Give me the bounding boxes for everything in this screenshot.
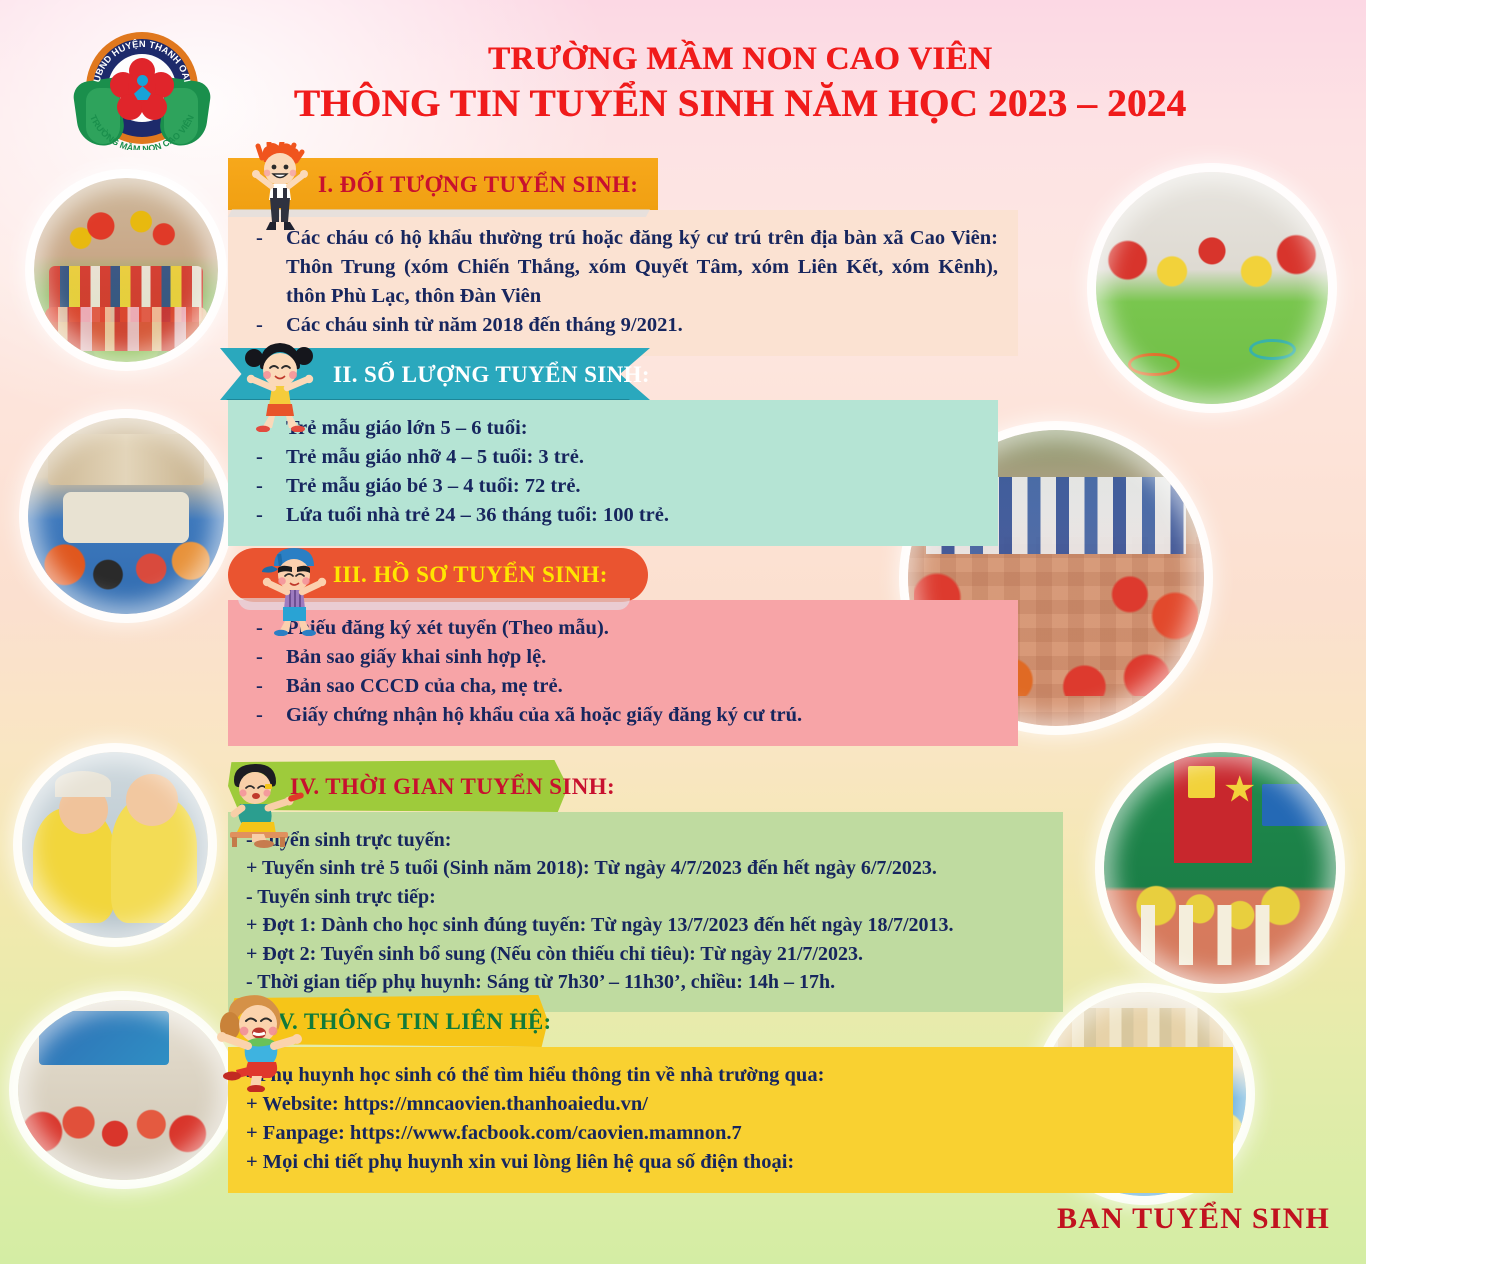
boy-blue-cap-mascot — [248, 542, 342, 641]
logo-arc-top-label: UBND HUYỆN THANH OAI — [92, 38, 193, 83]
logo-arc-text: UBND HUYỆN THANH OAI TRƯỜNG MẦM NON CAO … — [72, 32, 212, 150]
section-5-banner: V. THÔNG TIN LIÊN HỆ: — [228, 995, 1233, 1047]
list-item: + Đợt 1: Dành cho học sinh đúng tuyến: T… — [246, 911, 1043, 939]
list-item: - Tuyển sinh trực tiếp: — [246, 883, 1043, 911]
section-4-heading: IV. THỜI GIAN TUYỂN SINH: — [290, 775, 615, 798]
section-2-body: - Trẻ mẫu giáo lớn 5 – 6 tuổi: - Trẻ mẫu… — [228, 400, 998, 546]
fanpage-line: + Fanpage: https://www.facbook.com/caovi… — [246, 1119, 1213, 1148]
bullet-text: Trẻ mẫu giáo bé 3 – 4 tuổi: 72 trẻ. — [286, 472, 978, 501]
title-line-2: THÔNG TIN TUYỂN SINH NĂM HỌC 2023 – 2024 — [235, 81, 1245, 127]
bullet-text: Bản sao CCCD của cha, mẹ trẻ. — [286, 672, 998, 701]
section-so-luong-tuyen-sinh: II. SỐ LƯỢNG TUYỂN SINH: - Trẻ mẫu giáo … — [228, 348, 1018, 546]
list-item: - Thời gian tiếp phụ huynh: Sáng từ 7h30… — [246, 968, 1043, 996]
poster-title-block: TRƯỜNG MẦM NON CAO VIÊN THÔNG TIN TUYỂN … — [235, 40, 1245, 127]
list-item: - Tuyển sinh trực tuyến: — [246, 826, 1043, 854]
bullet-text: Các cháu sinh từ năm 2018 đến tháng 9/20… — [286, 311, 998, 340]
bullet-text: Lứa tuổi nhà trẻ 24 – 36 tháng tuổi: 100… — [286, 501, 978, 530]
footer-signature: BAN TUYỂN SINH — [1057, 1204, 1330, 1234]
list-item: - Giấy chứng nhận hộ khẩu của xã hoặc gi… — [256, 701, 998, 730]
section-3-banner: III. HỒ SƠ TUYỂN SINH: — [228, 548, 1018, 600]
list-item: - Phiếu đăng ký xét tuyển (Theo mẫu). — [256, 614, 998, 643]
photo-outdoor-play — [22, 752, 208, 938]
list-item: - Phụ huynh học sinh có thể tìm hiểu thô… — [246, 1061, 1213, 1090]
bullet-dash: - — [256, 643, 286, 672]
bullet-text: Trẻ mẫu giáo nhỡ 4 – 5 tuổi: 3 trẻ. — [286, 443, 978, 472]
section-4-banner: IV. THỜI GIAN TUYỂN SINH: — [228, 760, 1063, 812]
section-2-heading: II. SỐ LƯỢNG TUYỂN SINH: — [333, 363, 650, 386]
list-item: - Trẻ mẫu giáo lớn 5 – 6 tuổi: — [256, 414, 978, 443]
bullet-dash: - — [256, 701, 286, 730]
section-5-heading: V. THÔNG TIN LIÊN HỆ: — [278, 1010, 552, 1033]
photo-classroom-activity — [28, 418, 224, 614]
list-item: - Bản sao CCCD của cha, mẹ trẻ. — [256, 672, 998, 701]
list-item: + Tuyển sinh trẻ 5 tuổi (Sinh năm 2018):… — [246, 854, 1043, 882]
bullet-dash: - — [256, 472, 286, 501]
boy-sitting-crayon-mascot — [212, 758, 308, 855]
list-item: - Các cháu sinh từ năm 2018 đến tháng 9/… — [256, 311, 998, 340]
list-item: - Trẻ mẫu giáo nhỡ 4 – 5 tuổi: 3 trẻ. — [256, 443, 978, 472]
list-item: - Bản sao giấy khai sinh hợp lệ. — [256, 643, 998, 672]
bullet-dash: - — [256, 501, 286, 530]
photo-sports-day — [1096, 172, 1328, 404]
section-1-body: - Các cháu có hộ khẩu thường trú hoặc đă… — [228, 210, 1018, 356]
phone-line: + Mọi chi tiết phụ huynh xin vui lòng li… — [246, 1148, 1213, 1177]
section-5-body: - Phụ huynh học sinh có thể tìm hiểu thô… — [228, 1047, 1233, 1193]
poster-header: UBND HUYỆN THANH OAI TRƯỜNG MẦM NON CAO … — [0, 14, 1366, 144]
section-3-body: - Phiếu đăng ký xét tuyển (Theo mẫu). - … — [228, 600, 1018, 746]
photo-award-ceremony — [1104, 752, 1336, 984]
bullet-dash: - — [256, 443, 286, 472]
girl-pigtails-mascot — [232, 336, 328, 437]
website-line: + Website: https://mncaovien.thanhoaiedu… — [246, 1090, 1213, 1119]
section-3-heading: III. HỒ SƠ TUYỂN SINH: — [333, 563, 608, 586]
bullet-dash: - — [256, 672, 286, 701]
bullet-text: Bản sao giấy khai sinh hợp lệ. — [286, 643, 998, 672]
svg-text:TRƯỜNG MẦM NON CAO VIÊN: TRƯỜNG MẦM NON CAO VIÊN — [88, 113, 196, 150]
section-4-body: - Tuyển sinh trực tuyến: + Tuyển sinh tr… — [228, 812, 1063, 1012]
list-item: - Trẻ mẫu giáo bé 3 – 4 tuổi: 72 trẻ. — [256, 472, 978, 501]
title-line-1: TRƯỜNG MẦM NON CAO VIÊN — [235, 40, 1245, 79]
bullet-text: Các cháu có hộ khẩu thường trú hoặc đăng… — [286, 224, 998, 311]
bullet-text: Giấy chứng nhận hộ khẩu của xã hoặc giấy… — [286, 701, 998, 730]
section-ho-so-tuyen-sinh: III. HỒ SƠ TUYỂN SINH: - Phiếu đăng ký x… — [228, 548, 1018, 746]
section-thoi-gian-tuyen-sinh: IV. THỜI GIAN TUYỂN SINH: - Tuyển sinh t… — [228, 760, 1063, 1012]
list-item: - Các cháu có hộ khẩu thường trú hoặc đă… — [256, 224, 998, 311]
section-thong-tin-lien-he: V. THÔNG TIN LIÊN HỆ: - Phụ huynh học si… — [228, 995, 1233, 1193]
bullet-text: Phiếu đăng ký xét tuyển (Theo mẫu). — [286, 614, 998, 643]
logo-arc-bottom-label: TRƯỜNG MẦM NON CAO VIÊN — [88, 113, 196, 150]
list-item: - Lứa tuổi nhà trẻ 24 – 36 tháng tuổi: 1… — [256, 501, 978, 530]
photo-tet-group — [34, 178, 218, 362]
section-doi-tuong-tuyen-sinh: I. ĐỐI TƯỢNG TUYỂN SINH: - Các cháu có h… — [228, 158, 1018, 356]
bullet-text: Trẻ mẫu giáo lớn 5 – 6 tuổi: — [286, 414, 978, 443]
girl-waving-mascot — [206, 988, 314, 1097]
list-item: + Đợt 2: Tuyển sinh bổ sung (Nếu còn thi… — [246, 940, 1043, 968]
section-1-banner: I. ĐỐI TƯỢNG TUYỂN SINH: — [228, 158, 1018, 210]
photo-ceremony-group — [18, 1000, 228, 1180]
svg-text:UBND HUYỆN THANH OAI: UBND HUYỆN THANH OAI — [92, 38, 193, 83]
admission-poster: UBND HUYỆN THANH OAI TRƯỜNG MẦM NON CAO … — [0, 0, 1366, 1264]
school-logo: UBND HUYỆN THANH OAI TRƯỜNG MẦM NON CAO … — [72, 32, 212, 150]
section-1-heading: I. ĐỐI TƯỢNG TUYỂN SINH: — [318, 173, 638, 196]
section-2-banner: II. SỐ LƯỢNG TUYỂN SINH: — [228, 348, 1018, 400]
boy-orange-hair-mascot — [238, 142, 324, 243]
